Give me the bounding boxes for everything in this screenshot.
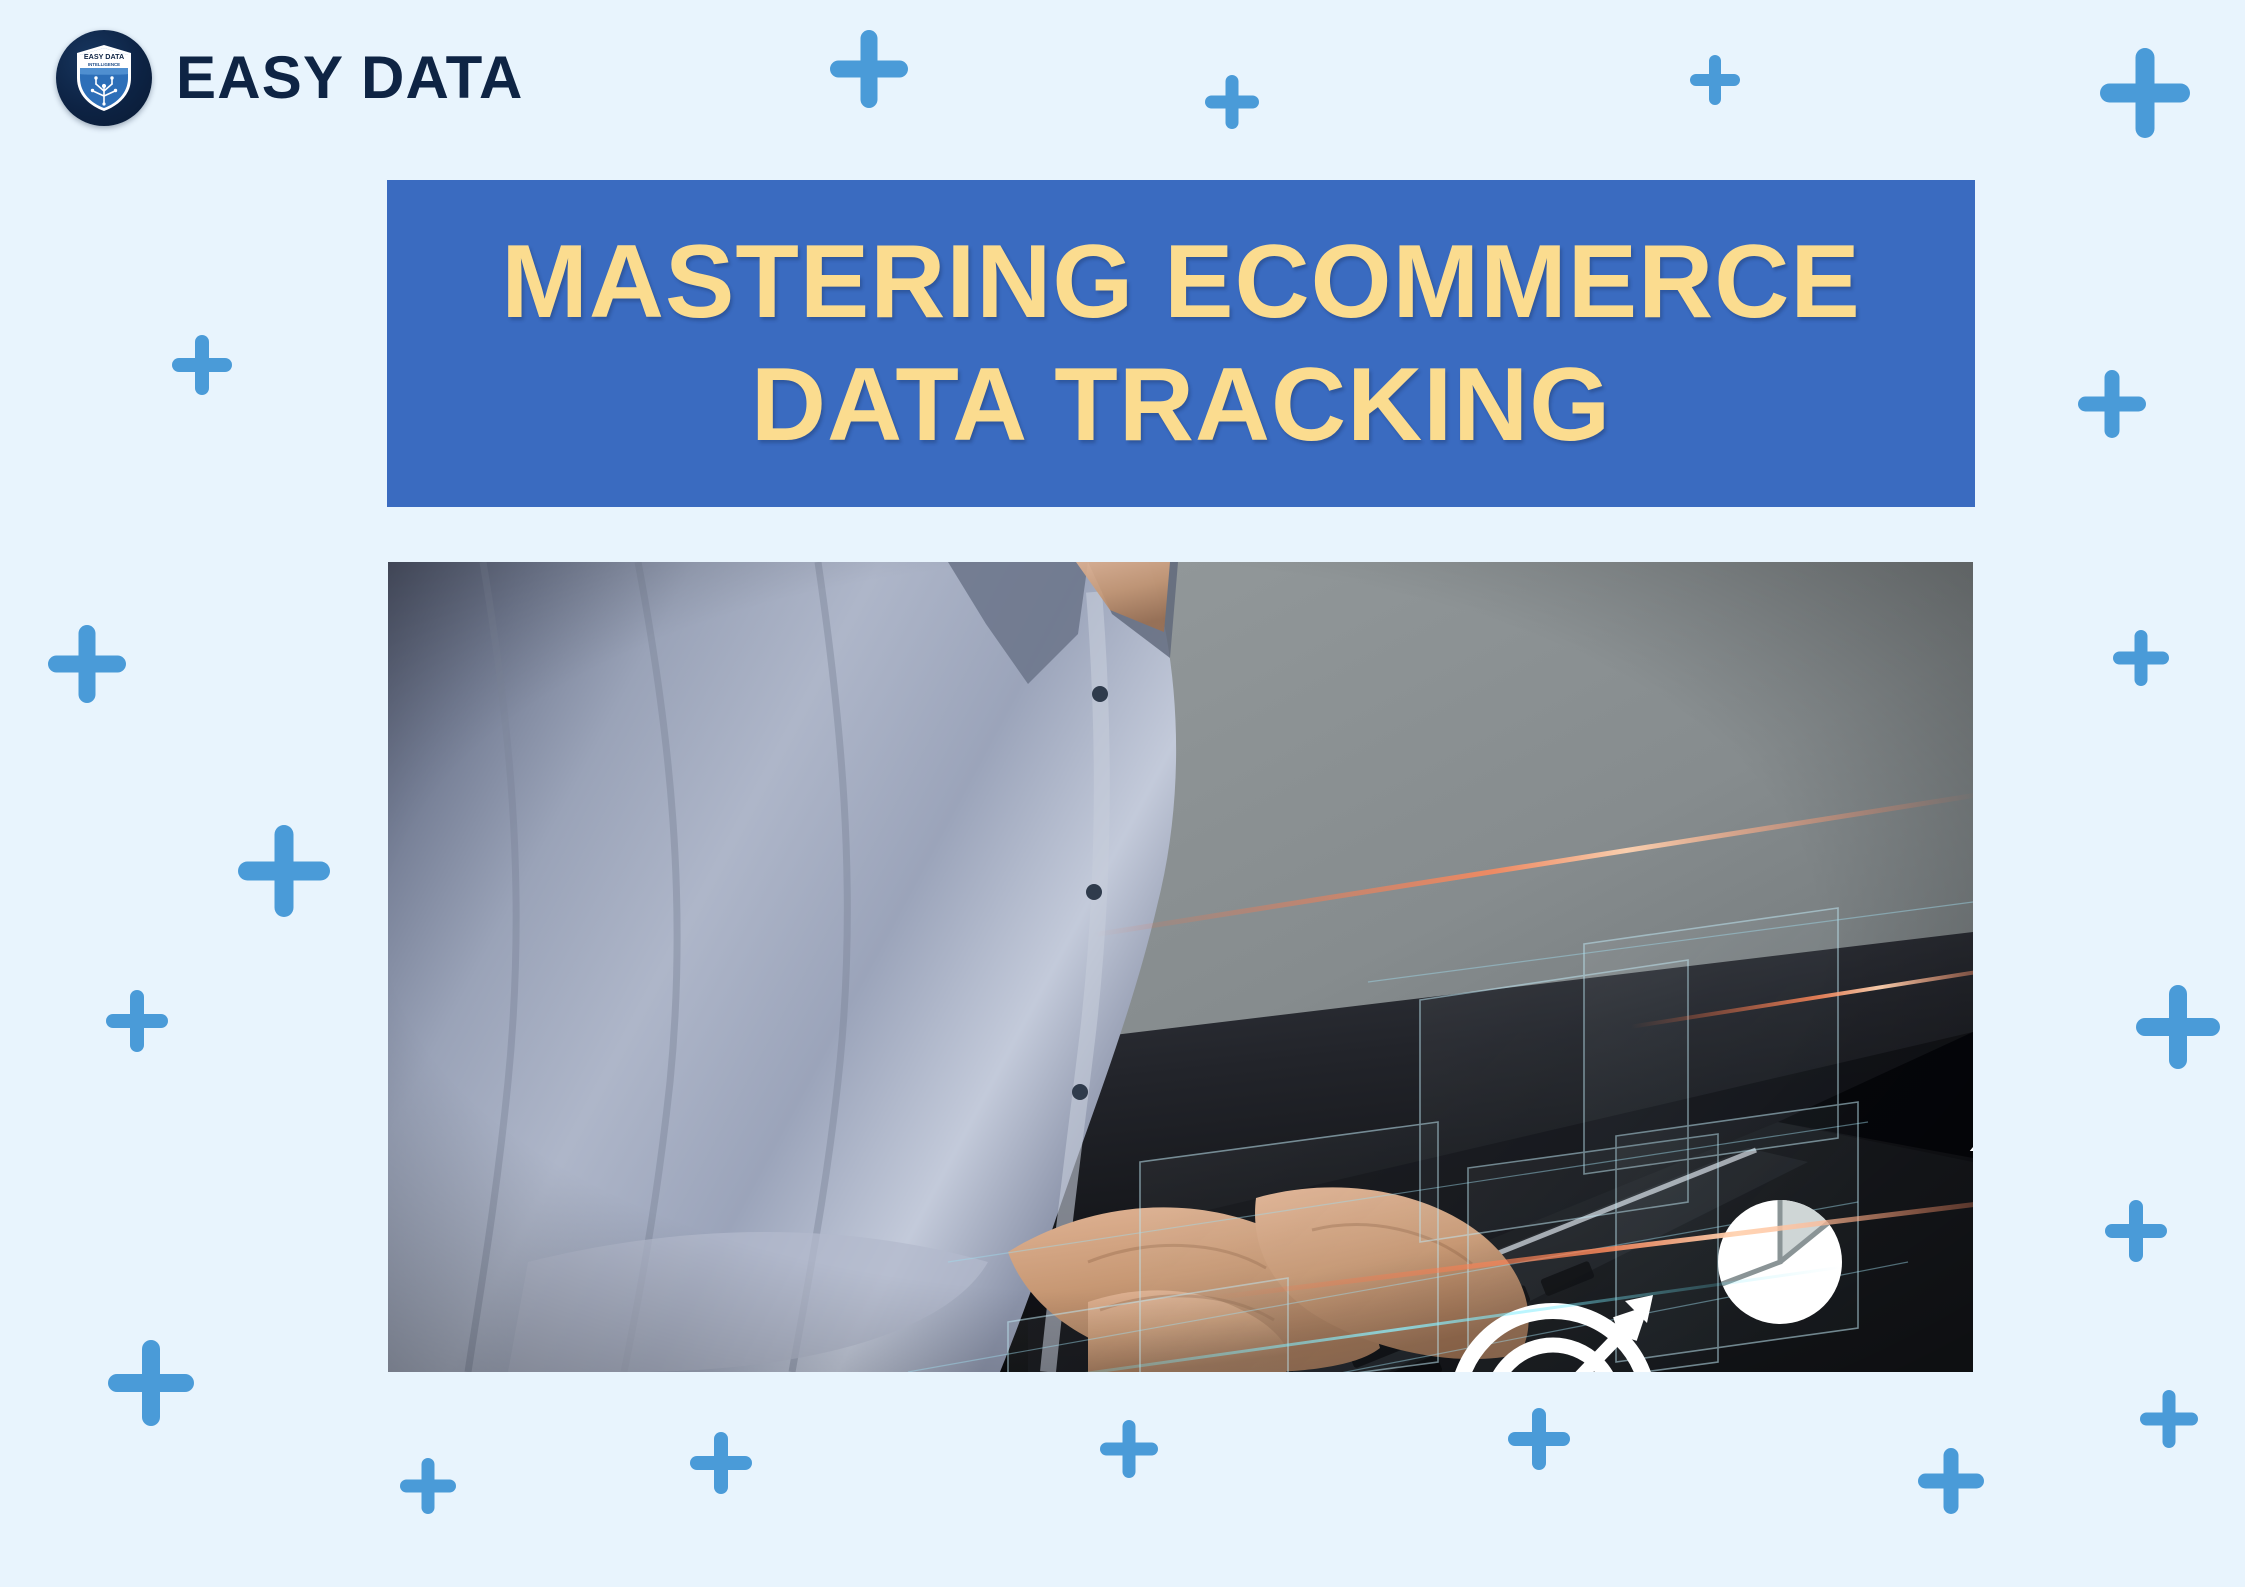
plus-decoration-icon: [108, 1340, 194, 1426]
shield-badge-icon: EASY DATA INTELLIGENCE: [56, 30, 152, 126]
plus-decoration-icon: [400, 1458, 456, 1514]
shield-icon: EASY DATA INTELLIGENCE: [74, 44, 134, 112]
hero-photo: 75%: [388, 562, 1973, 1372]
title-banner: MASTERING ECOMMERCE DATA TRACKING: [387, 180, 1975, 507]
plus-decoration-icon: [172, 335, 232, 395]
plus-decoration-icon: [1918, 1448, 1984, 1514]
plus-decoration-icon: [106, 990, 168, 1052]
plus-decoration-icon: [1205, 75, 1259, 129]
title-line-1: MASTERING ECOMMERCE: [501, 221, 1860, 344]
plus-decoration-icon: [48, 625, 126, 703]
poster-canvas: EASY DATA INTELLIGENCE: [0, 0, 2245, 1587]
title-line-2: DATA TRACKING: [751, 344, 1611, 467]
brand-logo: EASY DATA INTELLIGENCE: [56, 30, 524, 126]
plus-decoration-icon: [1690, 55, 1740, 105]
plus-decoration-icon: [2100, 48, 2190, 138]
plus-decoration-icon: [2113, 630, 2169, 686]
plus-decoration-icon: [2078, 370, 2146, 438]
brand-wordmark: EASY DATA: [176, 48, 524, 108]
plus-decoration-icon: [2136, 985, 2220, 1069]
plus-decoration-icon: [830, 30, 908, 108]
plus-decoration-icon: [690, 1432, 752, 1494]
svg-text:EASY DATA: EASY DATA: [84, 52, 124, 61]
plus-decoration-icon: [1508, 1408, 1570, 1470]
plus-decoration-icon: [2105, 1200, 2167, 1262]
plus-decoration-icon: [238, 825, 330, 917]
plus-decoration-icon: [2140, 1390, 2198, 1448]
plus-decoration-icon: [1100, 1420, 1158, 1478]
svg-text:INTELLIGENCE: INTELLIGENCE: [88, 62, 120, 67]
